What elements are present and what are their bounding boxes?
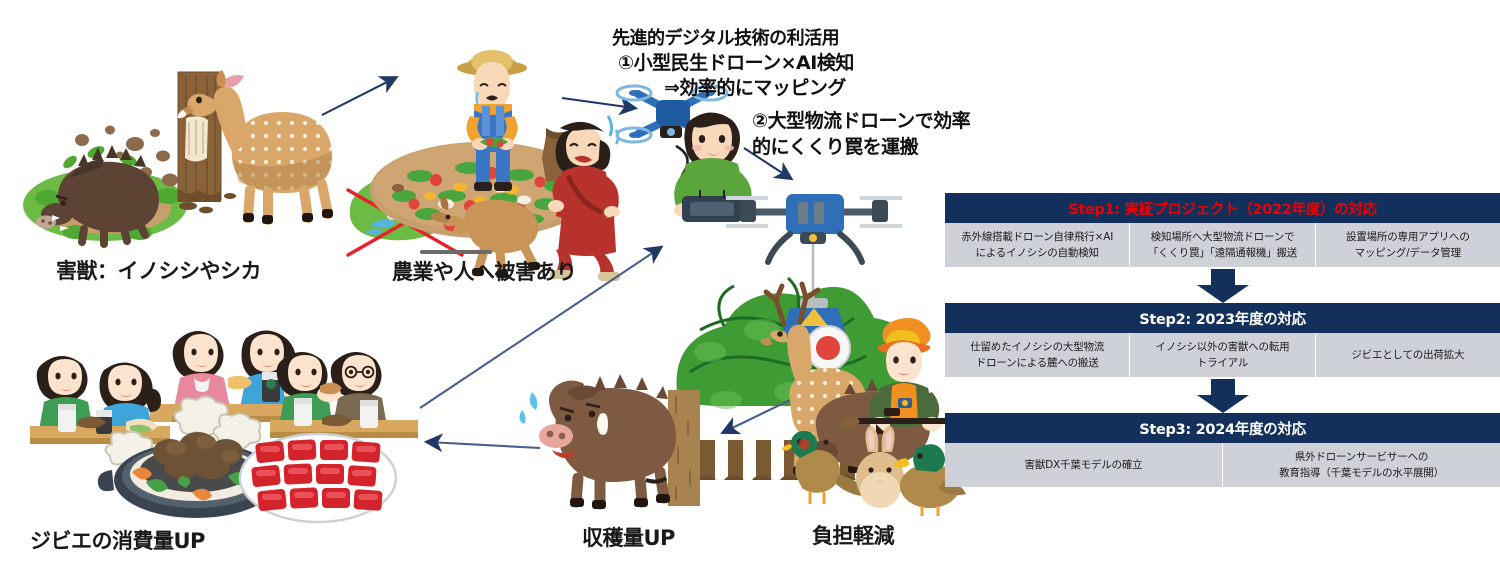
callout-logistics-drone-line2: 的にくくり罠を運搬	[752, 136, 918, 159]
roadmap-table: Step1: 実証プロジェクト（2022年度）の対応 赤外線搭載ドローン自律飛行…	[945, 193, 1500, 487]
step3-header: Step3: 2024年度の対応	[945, 413, 1500, 443]
callout-digital-tech-line2: ①小型民生ドローン×AI検知	[618, 52, 854, 75]
step1-cell-2[interactable]: 検知場所へ大型物流ドローンで 「くくり罠」「遠隔通報機」搬送	[1130, 223, 1315, 267]
roadmap-step-3: Step3: 2024年度の対応 害獣DX千葉モデルの確立 県外ドローンサービサ…	[945, 413, 1500, 487]
step3-cell-2[interactable]: 県外ドローンサービサーへの 教育指導（千葉モデルの水平展開）	[1223, 443, 1500, 487]
down-arrow-icon	[1197, 379, 1249, 413]
deer-eating-tree-illustration	[178, 70, 333, 224]
step2-cell-2[interactable]: イノシシ以外の害獣への転用 トライアル	[1130, 333, 1315, 377]
step1-cell-3[interactable]: 設置場所の専用アプリへの マッピング/データ管理	[1316, 223, 1500, 267]
step1-header: Step1: 実証プロジェクト（2022年度）の対応	[945, 193, 1500, 223]
callout-digital-tech-line1: 先進的デジタル技術の利活用	[612, 28, 839, 50]
packaged-meat-tray	[240, 434, 396, 522]
step2-cell-1[interactable]: 仕留めたイノシシの大型物流 ドローンによる麓への搬送	[945, 333, 1130, 377]
down-arrow-icon	[1197, 269, 1249, 303]
flow-arrow-7	[428, 442, 540, 448]
callout-digital-tech-line3: ⇒効率的にマッピング	[664, 77, 846, 100]
caption-damage: 農業や人へ被害あり	[392, 256, 577, 286]
roadmap-step-2: Step2: 2023年度の対応 仕留めたイノシシの大型物流 ドローンによる麓へ…	[945, 303, 1500, 377]
caption-harvest-up: 収穫量UP	[582, 522, 675, 552]
roadmap-step-1: Step1: 実証プロジェクト（2022年度）の対応 赤外線搭載ドローン自律飛行…	[945, 193, 1500, 267]
roadmap-arrow-1-to-2	[945, 267, 1500, 303]
step2-row: 仕留めたイノシシの大型物流 ドローンによる麓への搬送 イノシシ以外の害獣への転用…	[945, 333, 1500, 377]
roadmap-arrow-2-to-3	[945, 377, 1500, 413]
wild-boar-digging-illustration	[23, 126, 187, 245]
step3-row: 害獣DX千葉モデルの確立 県外ドローンサービサーへの 教育指導（千葉モデルの水平…	[945, 443, 1500, 487]
step1-row: 赤外線搭載ドローン自律飛行×AI によるイノシシの自動検知 検知場所へ大型物流ド…	[945, 223, 1500, 267]
caption-pest-animals: 害獣：イノシシやシカ	[56, 255, 261, 285]
callout-logistics-drone-line1: ②大型物流ドローンで効率	[752, 110, 970, 133]
step1-cell-1[interactable]: 赤外線搭載ドローン自律飛行×AI によるイノシシの自動検知	[945, 223, 1130, 267]
wild-boar-beside-post	[519, 374, 700, 509]
caption-gibier-consume: ジビエの消費量UP	[30, 525, 205, 555]
step2-cell-3[interactable]: ジビエとしての出荷拡大	[1316, 333, 1500, 377]
flow-arrow-1	[322, 78, 395, 115]
step2-header: Step2: 2023年度の対応	[945, 303, 1500, 333]
caption-burden-reduce: 負担軽減	[812, 520, 894, 550]
infographic-canvas: 先進的デジタル技術の利活用 ①小型民生ドローン×AI検知 ⇒効率的にマッピング …	[0, 0, 1500, 586]
step3-cell-1[interactable]: 害獣DX千葉モデルの確立	[945, 443, 1223, 487]
